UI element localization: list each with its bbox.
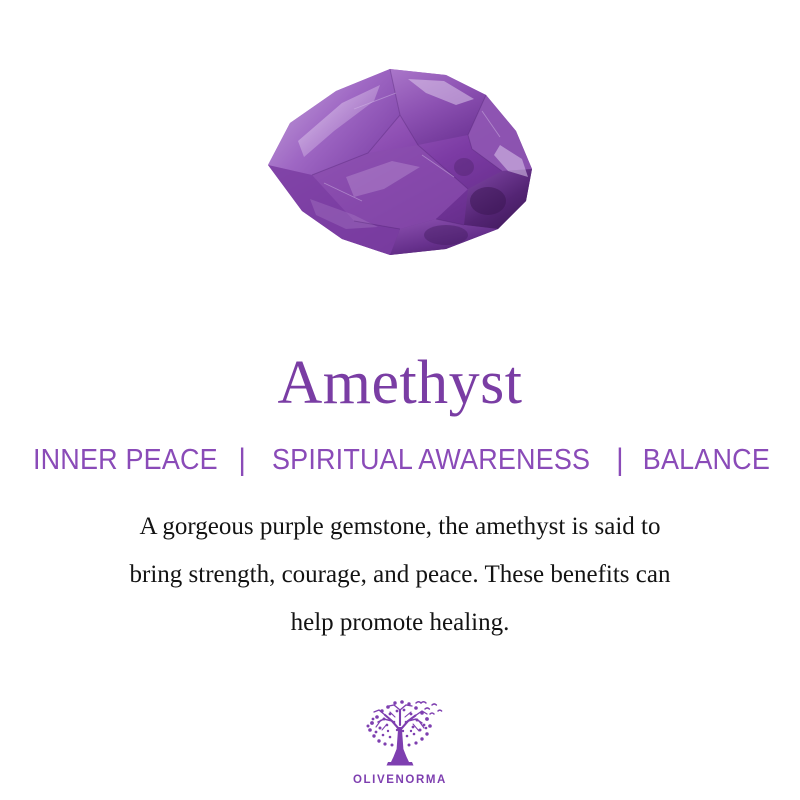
keyword-balance: BALANCE (642, 444, 769, 477)
keyword-list: INNER PEACE | SPIRITUAL AWARENESS | BALA… (26, 444, 775, 477)
description-line: A gorgeous purple gemstone, the amethyst… (40, 503, 760, 551)
product-card: Amethyst INNER PEACE | SPIRITUAL AWARENE… (0, 0, 800, 800)
tree-of-life-icon (354, 697, 446, 773)
product-description: A gorgeous purple gemstone, the amethyst… (40, 503, 760, 647)
description-line: bring strength, courage, and peace. Thes… (40, 551, 760, 599)
keyword-separator: | (602, 443, 638, 478)
brand-logo: OLIVENORMA (0, 697, 800, 786)
keyword-separator: | (224, 443, 260, 478)
amethyst-raw-crystal-icon (250, 49, 550, 269)
keyword-inner-peace: INNER PEACE (32, 444, 217, 477)
brand-name: OLIVENORMA (353, 774, 447, 786)
page-title: Amethyst (277, 352, 522, 414)
description-line: help promote healing. (40, 599, 760, 647)
keyword-spiritual-awareness: SPIRITUAL AWARENESS (272, 444, 590, 477)
hero-image-container (0, 0, 800, 310)
